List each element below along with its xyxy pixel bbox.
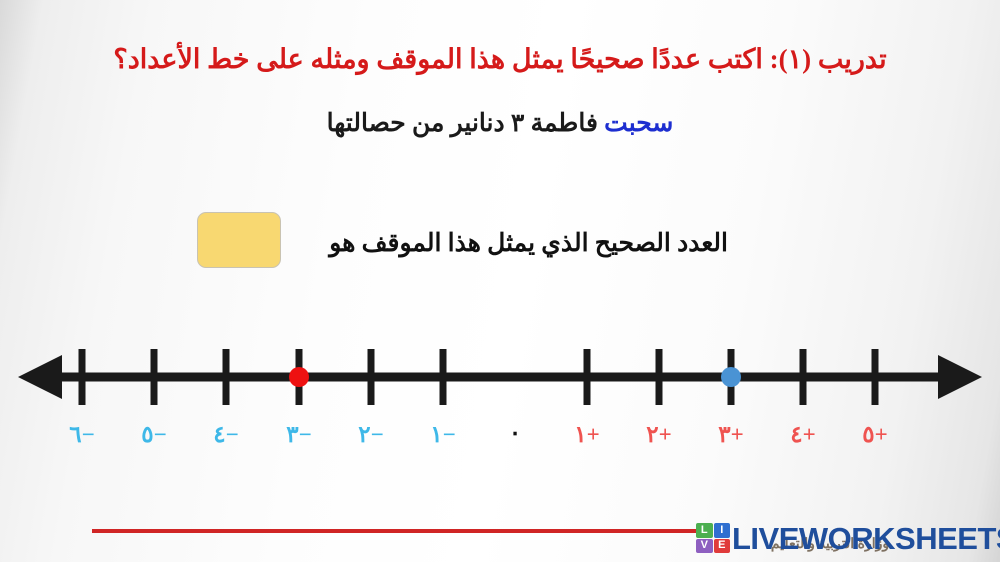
tick-label-minus2: ٢− bbox=[358, 422, 383, 448]
statement-rest: فاطمة ٣ دنانير من حصالتها bbox=[327, 110, 605, 137]
blue-marker bbox=[721, 367, 741, 387]
tick-label-minus5: ٥− bbox=[141, 422, 166, 448]
badge-letter-v: V bbox=[696, 539, 713, 554]
tick-label-plus2: ٢+ bbox=[646, 422, 671, 448]
tick-label-minus3: ٣− bbox=[286, 422, 311, 448]
problem-statement: سحبت فاطمة ٣ دنانير من حصالتها bbox=[0, 108, 1000, 138]
axis-arrow-right bbox=[938, 355, 982, 399]
tick-label-plus5: ٥+ bbox=[862, 422, 887, 448]
badge-letter-i: I bbox=[714, 523, 731, 538]
tick-label-plus4: ٤+ bbox=[790, 422, 815, 448]
answer-input[interactable] bbox=[197, 212, 281, 268]
tick-label-minus6: ٦− bbox=[69, 422, 94, 448]
footer-divider bbox=[92, 529, 696, 533]
axis-arrow-left bbox=[18, 355, 62, 399]
answer-row: العدد الصحيح الذي يمثل هذا الموقف هو bbox=[0, 212, 1000, 272]
tick-label-plus3: ٣+ bbox=[718, 422, 743, 448]
page-title: تدريب (١): اكتب عددًا صحيحًا يمثل هذا ال… bbox=[0, 44, 1000, 75]
badge-letter-l: L bbox=[696, 523, 713, 538]
tick-label-minus1: ١− bbox=[430, 422, 455, 448]
tick-label-0: ٠ bbox=[509, 420, 521, 446]
liveworksheets-wordmark: LIVEWORKSHEETS bbox=[732, 523, 1000, 554]
live-badge-icon: L I V E bbox=[696, 523, 730, 553]
badge-letter-e: E bbox=[714, 539, 731, 554]
tick-label-plus1: ١+ bbox=[574, 422, 599, 448]
tick-label-minus4: ٤− bbox=[213, 422, 238, 448]
statement-highlight: سحبت bbox=[604, 110, 673, 137]
number-line: ٦−٥−٤−٣−٢−١−٠١+٢+٣+٤+٥+ bbox=[0, 330, 1000, 460]
worksheet-page: تدريب (١): اكتب عددًا صحيحًا يمثل هذا ال… bbox=[0, 0, 1000, 562]
answer-label: العدد الصحيح الذي يمثل هذا الموقف هو bbox=[329, 228, 728, 258]
red-marker bbox=[289, 367, 309, 387]
number-line-axis bbox=[18, 355, 982, 399]
liveworksheets-logo[interactable]: L I V E LIVEWORKSHEETS bbox=[696, 520, 1000, 556]
